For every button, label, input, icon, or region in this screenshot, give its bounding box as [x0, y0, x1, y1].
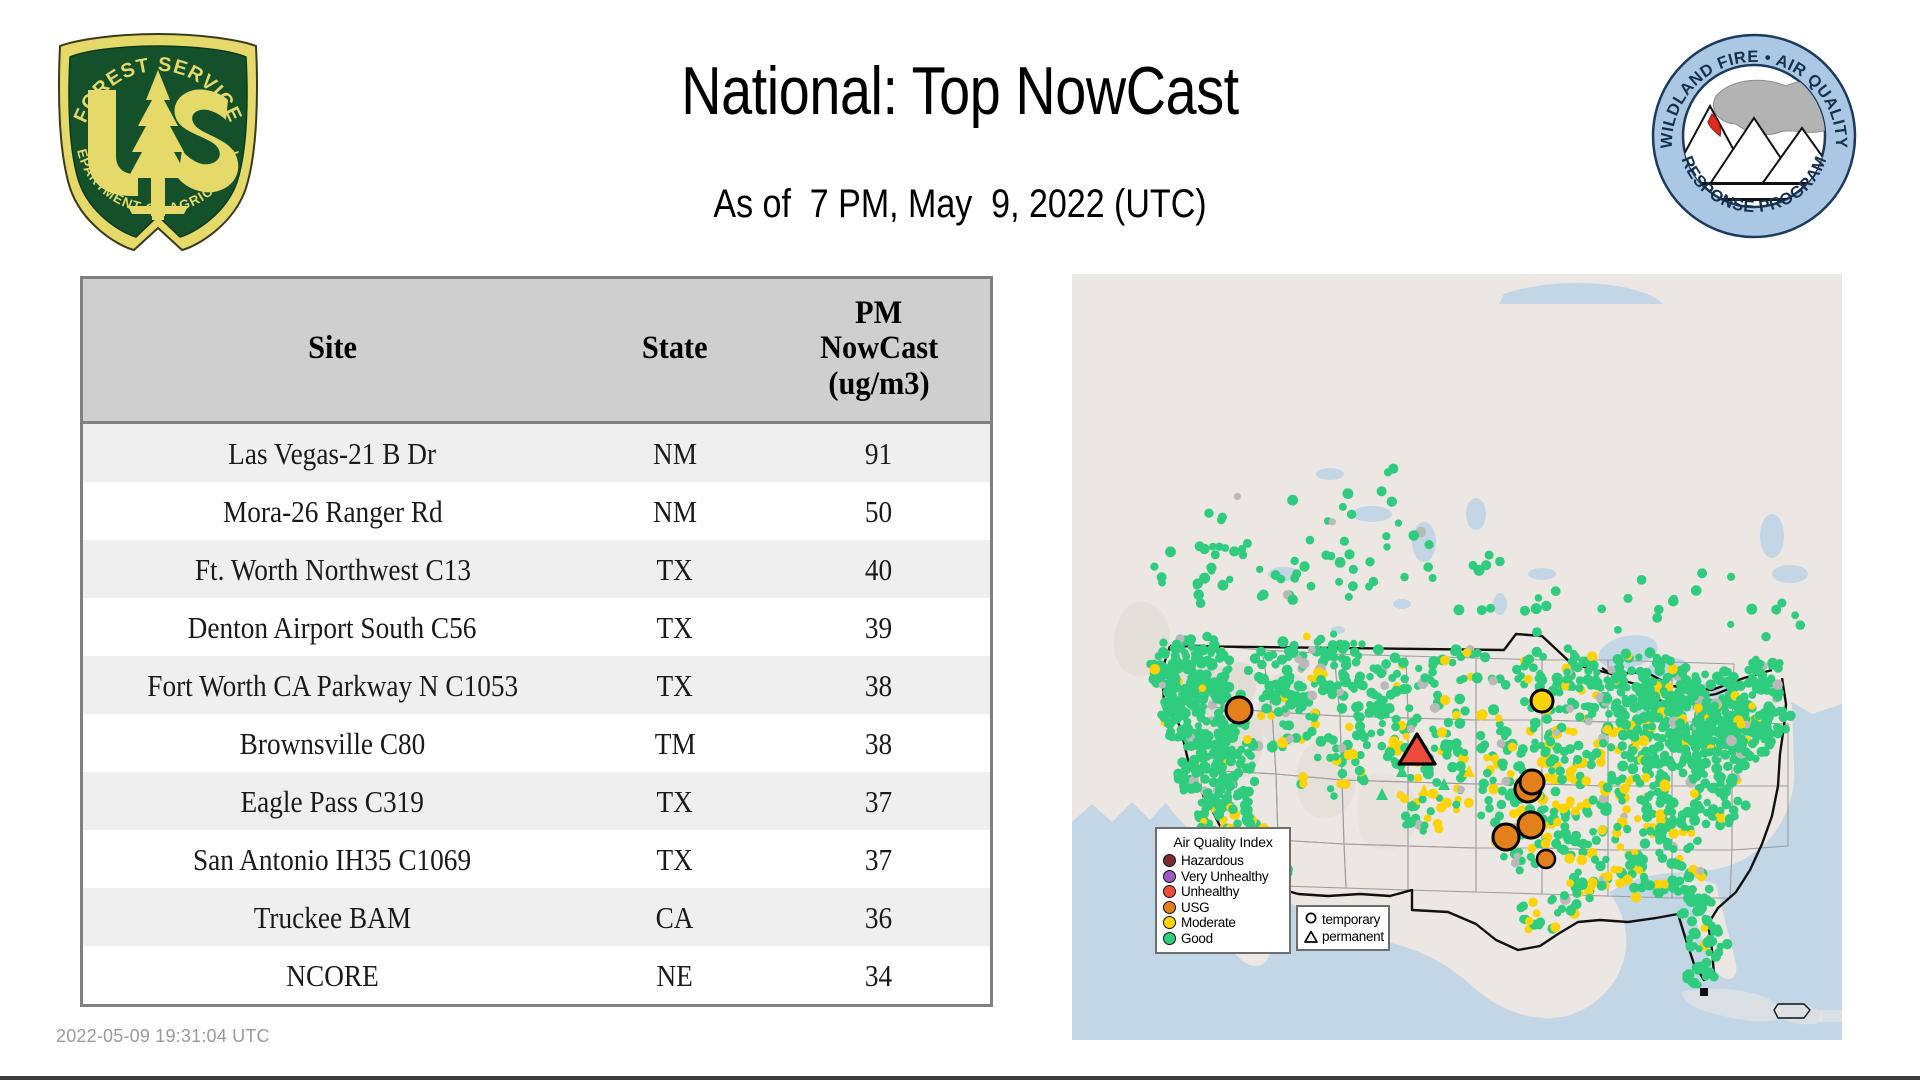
monitor-dot	[1558, 804, 1568, 814]
monitor-dot	[1640, 796, 1650, 806]
monitor-dot	[1235, 792, 1243, 800]
monitor-dot	[1688, 885, 1697, 894]
monitor-dot	[1618, 797, 1625, 804]
table-cell-state: CA	[582, 888, 768, 946]
monitor-dot	[1234, 493, 1241, 500]
monitor-dot	[1177, 757, 1187, 767]
monitor-dot	[1627, 666, 1636, 675]
table-cell-state: TX	[582, 540, 768, 598]
monitor-dot	[1225, 781, 1235, 791]
monitor-dot	[1204, 509, 1213, 518]
monitor-dot	[1485, 804, 1494, 813]
monitor-dot	[1461, 749, 1468, 756]
monitor-dot	[1586, 760, 1595, 769]
monitor-dot	[1538, 673, 1545, 680]
monitor-dot	[1696, 805, 1705, 814]
monitor-dot	[1338, 744, 1347, 753]
monitor-dot	[1686, 899, 1693, 906]
aqi-swatch-icon	[1163, 901, 1176, 914]
monitor-dot	[1391, 723, 1400, 732]
aqi-legend-title: Air Quality Index	[1163, 834, 1283, 850]
monitor-dot	[1463, 648, 1472, 657]
monitor-dot	[1355, 721, 1365, 731]
monitor-dot	[1560, 891, 1569, 900]
monitor-dot	[1592, 676, 1599, 683]
monitor-dot	[1214, 730, 1224, 740]
monitor-dot	[1522, 661, 1530, 669]
monitor-dot	[1353, 701, 1363, 711]
table-cell-value: 36	[768, 888, 990, 946]
monitor-dot	[1337, 703, 1348, 714]
monitor-dot	[1607, 666, 1615, 674]
monitor-dot	[1495, 811, 1504, 820]
monitor-dot	[1613, 823, 1621, 831]
monitor-dot	[1589, 795, 1598, 804]
monitor-dot	[1485, 551, 1494, 560]
monitor-dot	[1555, 688, 1563, 696]
monitor-dot	[1598, 826, 1607, 835]
monitor-dot	[1443, 745, 1452, 754]
monitor-dot	[1634, 815, 1641, 822]
top-nowcast-table: Site State PM NowCast (ug/m3) Las Vegas-…	[80, 276, 993, 1007]
table-cell-site: Fort Worth CA Parkway N C1053	[83, 656, 582, 714]
monitor-dot	[1628, 694, 1638, 704]
monitor-dot	[1484, 796, 1493, 805]
monitor-dot	[1584, 809, 1593, 818]
monitor-dot	[1553, 729, 1560, 736]
monitor-dot	[1575, 712, 1584, 721]
monitor-dot	[1550, 922, 1560, 932]
monitor-dot	[1199, 739, 1209, 749]
highlight-marker-brownsville[interactable]	[1537, 850, 1555, 868]
monitor-dot	[1420, 673, 1429, 682]
monitor-dot	[1589, 828, 1597, 836]
table-cell-state: TX	[582, 830, 768, 888]
monitor-dot	[1533, 909, 1541, 917]
monitor-dot	[1429, 574, 1437, 582]
monitor-dot	[1519, 901, 1528, 910]
monitor-dot	[1630, 704, 1639, 713]
monitor-dot	[1477, 709, 1488, 720]
monitor-dot	[1363, 741, 1371, 749]
monitor-dot	[1423, 768, 1434, 779]
monitor-dot	[1236, 760, 1245, 769]
monitor-dot	[1202, 632, 1212, 642]
monitor-dot	[1150, 563, 1158, 571]
monitor-dot	[1708, 783, 1719, 794]
table-row: Mora-26 Ranger RdNM50	[83, 482, 990, 540]
monitor-dot	[1575, 684, 1584, 693]
table-cell-site: Las Vegas-21 B Dr	[83, 423, 582, 483]
table-row: Truckee BAMCA36	[83, 888, 990, 946]
monitor-dot	[1709, 972, 1718, 981]
monitor-dot	[1546, 737, 1555, 746]
monitor-dot	[1664, 808, 1672, 816]
monitor-dot	[1457, 786, 1465, 794]
monitor-dot	[1194, 728, 1205, 739]
monitor-dot	[1330, 631, 1337, 638]
monitor-dot	[1722, 939, 1732, 949]
monitor-dot	[1434, 825, 1443, 834]
monitor-dot	[1550, 808, 1558, 816]
monitor-dot	[1256, 566, 1263, 573]
monitor-dot	[1547, 897, 1555, 905]
monitor-dot	[1617, 761, 1628, 772]
monitor-dot	[1677, 910, 1686, 919]
monitor-dot	[1696, 722, 1704, 730]
monitor-dot	[1707, 708, 1715, 716]
monitor-dot	[1202, 658, 1211, 667]
monitor-dot	[1380, 681, 1389, 690]
monitor-dot	[1398, 658, 1409, 669]
monitor-dot	[1349, 565, 1358, 574]
monitor-dot	[1373, 644, 1384, 655]
monitor-dot	[1167, 676, 1175, 684]
monitor-dot	[1664, 707, 1673, 716]
monitor-dot	[1429, 656, 1440, 667]
monitor-dot	[1209, 768, 1219, 778]
monitor-dot	[1569, 765, 1577, 773]
monitor-dot	[1603, 725, 1612, 734]
monitor-dot	[1774, 693, 1782, 701]
highlight-marker-san-antonio-ih35[interactable]	[1518, 812, 1544, 838]
aqi-legend-label: Moderate	[1181, 915, 1236, 930]
monitor-dot	[1658, 828, 1667, 837]
monitor-dot	[1316, 675, 1325, 684]
monitor-dot	[1660, 779, 1670, 789]
monitor-dot	[1477, 605, 1487, 615]
monitor-dot	[1615, 866, 1622, 873]
aqi-swatch-icon	[1163, 885, 1176, 898]
monitor-dot	[1186, 665, 1195, 674]
monitor-dot	[1635, 866, 1643, 874]
monitor-dot	[1694, 703, 1703, 712]
monitor-dot	[1566, 905, 1576, 915]
monitor-dot	[1633, 725, 1643, 735]
monitor-dot	[1603, 694, 1613, 704]
forest-service-logo: FOREST SERVICE DEPARTMENT OF AGRICULTURE	[52, 28, 264, 258]
aqi-swatch-icon	[1163, 854, 1176, 867]
monitor-dot	[1529, 663, 1538, 672]
monitor-dot	[1385, 747, 1396, 758]
monitor-dot	[1576, 676, 1584, 684]
legend-label-temporary: temporary	[1322, 912, 1380, 927]
monitor-dot	[1622, 805, 1631, 814]
monitor-dot	[1599, 739, 1608, 748]
monitor-dot	[1627, 754, 1635, 762]
monitor-dot	[1646, 827, 1655, 836]
monitor-dot	[1455, 694, 1466, 705]
monitor-dot	[1560, 747, 1569, 756]
monitor-dot	[1640, 756, 1651, 767]
table-cell-value: 34	[768, 946, 990, 1004]
monitor-dot	[1520, 606, 1530, 616]
monitor-dot	[1563, 668, 1570, 675]
monitor-dot	[1291, 557, 1299, 565]
monitor-dot	[1257, 712, 1265, 720]
monitor-dot	[1212, 641, 1219, 648]
monitor-dot	[1686, 843, 1694, 851]
monitor-dot	[1299, 658, 1310, 669]
monitor-dot	[1299, 561, 1309, 571]
column-header-pm-nowcast: PM NowCast (ug/m3)	[768, 279, 990, 423]
monitor-dot	[1287, 594, 1298, 605]
monitor-dot	[1554, 830, 1563, 839]
monitor-dot	[1203, 763, 1211, 771]
monitor-dot	[1671, 732, 1682, 743]
monitor-dot	[1213, 799, 1224, 810]
monitor-dot	[1592, 836, 1601, 845]
monitor-dot	[1717, 807, 1724, 814]
monitor-dot	[1267, 712, 1275, 720]
monitor-dot	[1456, 676, 1464, 684]
monitor-dot	[1420, 827, 1427, 834]
monitor-dot	[1383, 543, 1390, 550]
table-cell-site: Ft. Worth Northwest C13	[83, 540, 582, 598]
monitor-dot	[1647, 677, 1656, 686]
highlight-marker-denton-airport-south[interactable]	[1520, 770, 1544, 794]
page-subtitle: As of 7 PM, May 9, 2022 (UTC)	[425, 182, 1496, 227]
monitor-dot	[1541, 839, 1551, 849]
monitor-dot	[1285, 653, 1293, 661]
monitor-dot	[1440, 656, 1450, 666]
monitor-dot	[1705, 885, 1714, 894]
monitor-dot	[1181, 649, 1189, 657]
monitor-dot	[1602, 806, 1612, 816]
table-row: Eagle Pass C319TX37	[83, 772, 990, 830]
aqi-legend-label: Good	[1181, 931, 1213, 946]
monitor-dot	[1618, 741, 1627, 750]
monitor-dot	[1159, 682, 1166, 689]
monitor-dot	[1348, 581, 1358, 591]
monitor-dot	[1271, 695, 1282, 706]
monitor-dot	[1623, 825, 1630, 832]
run-timestamp: 2022-05-09 19:31:04 UTC	[56, 1026, 270, 1047]
monitor-dot	[1377, 486, 1387, 496]
monitor-dot	[1423, 562, 1433, 572]
monitor-dot	[1557, 775, 1567, 785]
monitor-dot	[1164, 720, 1172, 728]
table-cell-site: Truckee BAM	[83, 888, 582, 946]
monitor-dot	[1585, 718, 1593, 726]
monitor-dot	[1531, 603, 1542, 614]
monitor-dot	[1298, 772, 1308, 782]
monitor-dot	[1694, 967, 1701, 974]
table-row: Denton Airport South C56TX39	[83, 598, 990, 656]
monitor-dot	[1671, 878, 1681, 888]
monitor-dot	[1375, 693, 1383, 701]
monitor-dot	[1355, 766, 1365, 776]
monitor-dot	[1681, 824, 1688, 831]
monitor-dot	[1643, 724, 1650, 731]
monitor-dot	[1428, 789, 1438, 799]
monitor-dot	[1192, 769, 1201, 778]
monitor-dot	[1427, 807, 1435, 815]
monitor-dot	[1387, 497, 1397, 507]
monitor-dot	[1425, 540, 1434, 549]
table-cell-state: TX	[582, 598, 768, 656]
monitor-dot	[1257, 660, 1267, 670]
monitor-dot	[1645, 880, 1655, 890]
highlight-marker-truckee-bam[interactable]	[1226, 697, 1252, 723]
legend-row-temporary: temporary	[1303, 911, 1383, 928]
monitor-dot	[1507, 770, 1515, 778]
monitor-dot	[1711, 763, 1722, 774]
monitor-dot	[1187, 741, 1197, 751]
monitor-dot	[1395, 519, 1402, 526]
monitor-dot	[1256, 647, 1266, 657]
monitor-dot	[1314, 754, 1322, 762]
monitor-dot	[1247, 752, 1255, 760]
monitor-dot	[1193, 578, 1203, 588]
table-cell-state: NM	[582, 482, 768, 540]
monitor-dot	[1541, 601, 1551, 611]
monitor-dot	[1444, 718, 1453, 727]
monitor-dot	[1558, 905, 1566, 913]
highlight-marker-eagle-pass[interactable]	[1493, 824, 1519, 850]
monitor-dot	[1403, 733, 1410, 740]
monitor-dot	[1548, 767, 1555, 774]
monitor-dot	[1447, 762, 1458, 773]
monitor-dot	[1379, 720, 1386, 727]
monitor-dot	[1350, 640, 1357, 647]
monitor-dot	[1212, 688, 1220, 696]
monitor-dot	[1316, 736, 1327, 747]
monitor-dot	[1307, 691, 1317, 701]
monitor-dot	[1515, 761, 1525, 771]
monitor-dot	[1215, 810, 1224, 819]
monitor-dot	[1561, 756, 1569, 764]
monitor-dot	[1713, 672, 1723, 682]
monitor-dot	[1338, 769, 1348, 779]
monitor-dot	[1688, 830, 1695, 837]
monitor-dot	[1724, 668, 1732, 676]
monitor-dot	[1617, 669, 1627, 679]
wfaqrp-logo: WILDLAND FIRE • AIR QUALITY RESPONSE PRO…	[1650, 32, 1858, 240]
monitor-dot	[1241, 805, 1250, 814]
monitor-dot	[1623, 875, 1633, 885]
monitor-dot	[1777, 599, 1786, 608]
table-cell-state: NE	[582, 946, 768, 1004]
monitor-dot	[1569, 683, 1577, 691]
monitor-dot	[1314, 638, 1322, 646]
monitor-dot	[1488, 704, 1499, 715]
monitor-dot	[1226, 576, 1233, 583]
monitor-dot	[1689, 928, 1700, 939]
monitor-dot	[1683, 872, 1694, 883]
monitor-dot	[1488, 784, 1498, 794]
monitor-dot	[1591, 856, 1599, 864]
monitor-dot	[1335, 557, 1346, 568]
monitor-dot	[1796, 620, 1806, 630]
monitor-dot	[1707, 898, 1715, 906]
national-aqi-map[interactable]: Air Quality Index HazardousVery Unhealth…	[1072, 274, 1842, 1040]
monitor-dot	[1399, 684, 1409, 694]
monitor-dot	[1581, 776, 1591, 786]
monitor-dot	[1193, 693, 1201, 701]
monitor-dot	[1280, 679, 1291, 690]
monitor-dot	[1277, 636, 1288, 647]
monitor-dot	[1377, 728, 1385, 736]
legend-label-permanent: permanent	[1322, 929, 1384, 944]
table-row: San Antonio IH35 C1069TX37	[83, 830, 990, 888]
monitor-dot	[1198, 646, 1206, 654]
monitor-dot	[1303, 633, 1311, 641]
monitor-type-legend: temporary permanent	[1296, 905, 1390, 951]
monitor-dot	[1229, 546, 1239, 556]
page-title: National: Top NowCast	[443, 52, 1476, 130]
monitor-dot	[1691, 585, 1702, 596]
monitor-dot	[1476, 731, 1485, 740]
monitor-dot	[1607, 743, 1615, 751]
monitor-dot	[1566, 796, 1575, 805]
highlight-marker-ncore[interactable]	[1531, 690, 1553, 712]
monitor-dot	[1186, 634, 1196, 644]
monitor-dot	[1347, 749, 1358, 760]
table-cell-value: 38	[768, 656, 990, 714]
monitor-dot	[1286, 735, 1294, 743]
monitor-dot	[1791, 611, 1799, 619]
monitor-dot	[1767, 675, 1775, 683]
monitor-dot	[1638, 673, 1648, 683]
monitor-dot	[1330, 792, 1338, 800]
monitor-dot	[1695, 732, 1702, 739]
monitor-dot	[1179, 728, 1186, 735]
monitor-dot	[1638, 697, 1647, 706]
monitor-dot	[1614, 777, 1622, 785]
monitor-dot	[1620, 784, 1630, 794]
monitor-dot	[1652, 613, 1662, 623]
monitor-dot	[1605, 710, 1613, 718]
monitor-dot	[1640, 838, 1650, 848]
monitor-dot	[1405, 817, 1416, 828]
monitor-dot	[1208, 567, 1216, 575]
aqi-legend-row: Hazardous	[1163, 853, 1283, 869]
monitor-dot	[1597, 684, 1605, 692]
monitor-dot	[1518, 672, 1525, 679]
monitor-dot	[1407, 801, 1417, 811]
monitor-dot	[1562, 676, 1570, 684]
monitor-dot	[1617, 688, 1626, 697]
monitor-dot	[1697, 568, 1707, 578]
monitor-dot	[1694, 762, 1702, 770]
monitor-dot	[1741, 747, 1750, 756]
monitor-dot	[1706, 935, 1715, 944]
monitor-dot	[1652, 696, 1660, 704]
monitor-dot	[1752, 661, 1763, 672]
monitor-dot	[1200, 774, 1209, 783]
monitor-dot	[1328, 690, 1337, 699]
monitor-dot	[1530, 725, 1538, 733]
table-cell-site: Denton Airport South C56	[83, 598, 582, 656]
monitor-dot	[1473, 649, 1481, 657]
monitor-dot	[1552, 673, 1563, 684]
monitor-dot	[1566, 705, 1574, 713]
monitor-dot	[1172, 683, 1182, 693]
monitor-dot	[1452, 744, 1459, 751]
monitor-dot	[1571, 807, 1580, 816]
column-header-state: State	[582, 279, 768, 423]
monitor-dot	[1366, 701, 1373, 708]
monitor-dot	[1666, 858, 1677, 869]
monitor-dot	[1731, 812, 1739, 820]
monitor-dot	[1209, 543, 1217, 551]
monitor-dot	[1388, 674, 1396, 682]
monitor-dot	[1691, 672, 1699, 680]
monitor-dot	[1690, 789, 1699, 798]
monitor-dot	[1654, 741, 1664, 751]
monitor-dot	[1364, 708, 1374, 718]
